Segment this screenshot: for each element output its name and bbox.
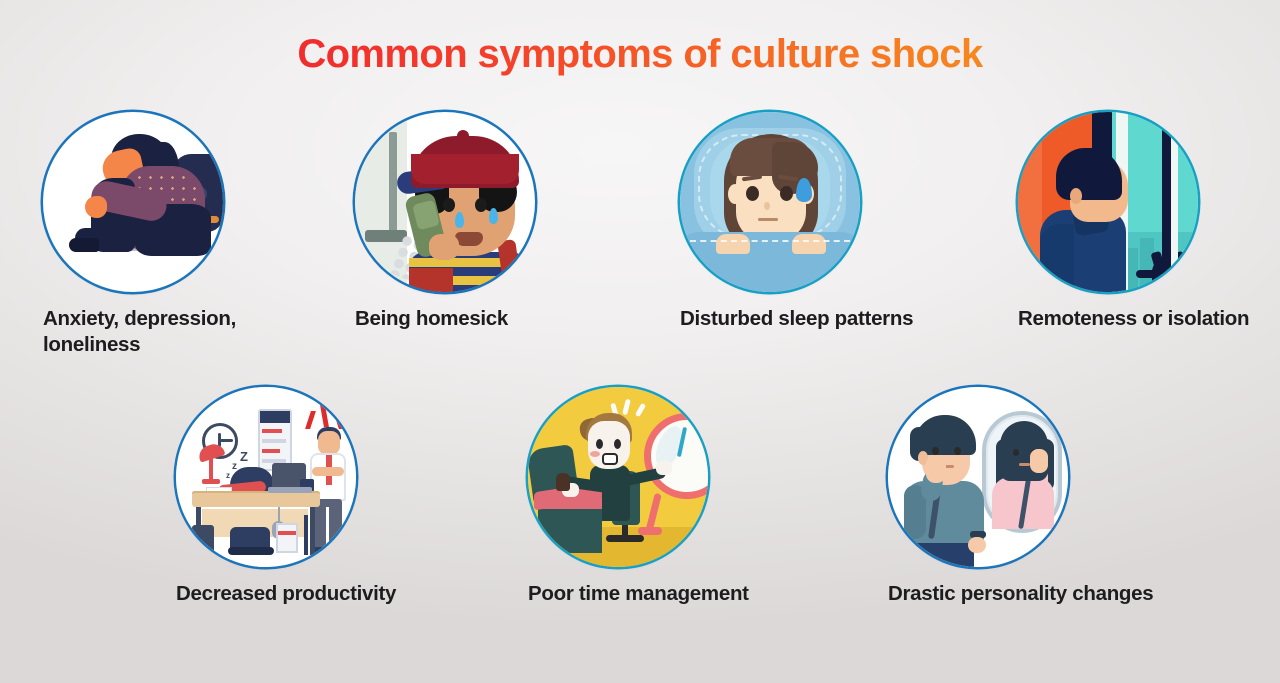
symptom-card-drastic-personality-changes[interactable]: Drastic personality changes [888,387,1188,607]
sleep-zzz-icon: z [226,471,230,480]
symptom-label: Decreased productivity [176,581,456,607]
symptom-label: Poor time management [528,581,808,607]
symptom-illustration-man-looking-out-window-with-cat [1018,112,1198,292]
symptom-card-disturbed-sleep-patterns[interactable]: Disturbed sleep patterns [680,112,970,332]
scene-sleep [680,112,860,292]
symptom-label: Remoteness or isolation [1018,306,1280,332]
scene-personality-changes [888,387,1068,567]
symptom-card-remoteness-or-isolation[interactable]: Remoteness or isolation [1018,112,1280,332]
symptom-illustration-person-sitting-hugging-knees-with-backpack [43,112,223,292]
scene-time-management [528,387,708,567]
scene-homesick [355,112,535,292]
symptom-card-decreased-productivity[interactable]: Z z z [176,387,456,607]
symptom-illustration-woman-awake-in-bed-with-sweat-drop [680,112,860,292]
page-title: Common symptoms of culture shock [297,32,982,76]
symptom-illustration-stressed-man-at-desk-with-giant-clock [528,387,708,567]
symptom-label: Being homesick [355,306,635,332]
symptom-illustration-man-seeing-different-reflection-in-mirror [888,387,1068,567]
sleep-zzz-icon: Z [240,449,248,464]
symptom-illustration-crying-boy-with-red-cap-on-payphone [355,112,535,292]
title-container: Common symptoms of culture shock [0,32,1280,76]
symptom-illustration-employee-asleep-at-desk-with-angry-boss: Z z z [176,387,356,567]
symptom-label: Drastic personality changes [888,581,1188,607]
symptom-label: Anxiety, depression, loneliness [43,306,323,358]
symptom-label: Disturbed sleep patterns [680,306,970,332]
symptom-card-anxiety-depression-loneliness[interactable]: Anxiety, depression, loneliness [43,112,323,358]
scene-anxiety [43,112,223,292]
symptom-card-poor-time-management[interactable]: Poor time management [528,387,808,607]
symptom-card-being-homesick[interactable]: Being homesick [355,112,635,332]
scene-isolation [1018,112,1198,292]
scene-productivity: Z z z [176,387,356,567]
